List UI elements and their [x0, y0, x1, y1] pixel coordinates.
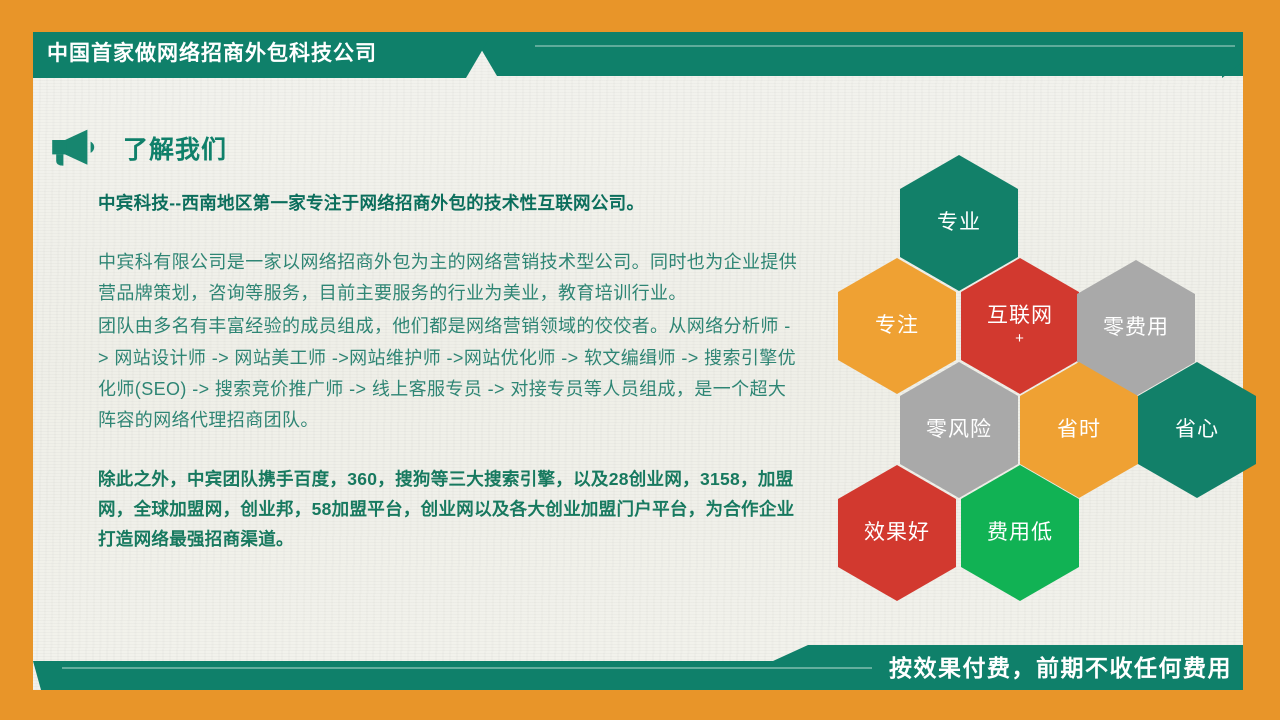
slide-root: 中国首家做网络招商外包科技公司 了解我们 中宾科技--西南地区第一家专注于网络招… [0, 0, 1280, 720]
page-title: 中国首家做网络招商外包科技公司 [47, 37, 377, 67]
closing-paragraph: 除此之外，中宾团队携手百度，360，搜狗等三大搜索引擎，以及28创业网，3158… [98, 464, 798, 554]
hexagon-cluster: 专业专注互联网+零费用零风险省时省心效果好费用低 [820, 155, 1230, 545]
hexagon-label: 省时 [1057, 418, 1101, 441]
header-divider-line [535, 45, 1235, 47]
hexagon-label: 专业 [937, 211, 981, 234]
section-title: 了解我们 [123, 130, 227, 166]
hexagon-label: 零风险 [926, 418, 992, 441]
hexagon-label: 省心 [1175, 418, 1219, 441]
footer-divider-line [62, 667, 872, 669]
section-heading: 了解我们 [47, 128, 227, 168]
hexagon-sublabel: + [1015, 331, 1025, 348]
hexagon-label: 专注 [875, 314, 919, 337]
paragraph-2: 团队由多名有丰富经验的成员组成，他们都是网络营销领域的佼佼者。从网络分析师 ->… [98, 311, 798, 436]
hexagon-label: 互联网 [987, 304, 1053, 327]
megaphone-icon [47, 128, 99, 168]
lead-paragraph: 中宾科技--西南地区第一家专注于网络招商外包的技术性互联网公司。 [98, 190, 798, 217]
paragraph-1: 中宾科有限公司是一家以网络招商外包为主的网络营销技术型公司。同时也为企业提供营品… [98, 247, 798, 309]
hexagon-label: 零费用 [1103, 316, 1169, 339]
hexagon-label: 费用低 [987, 521, 1053, 544]
hexagon-label: 效果好 [864, 521, 930, 544]
body-copy: 中宾科技--西南地区第一家专注于网络招商外包的技术性互联网公司。 中宾科有限公司… [98, 190, 798, 554]
footer-slogan: 按效果付费，前期不收任何费用 [889, 649, 1232, 683]
